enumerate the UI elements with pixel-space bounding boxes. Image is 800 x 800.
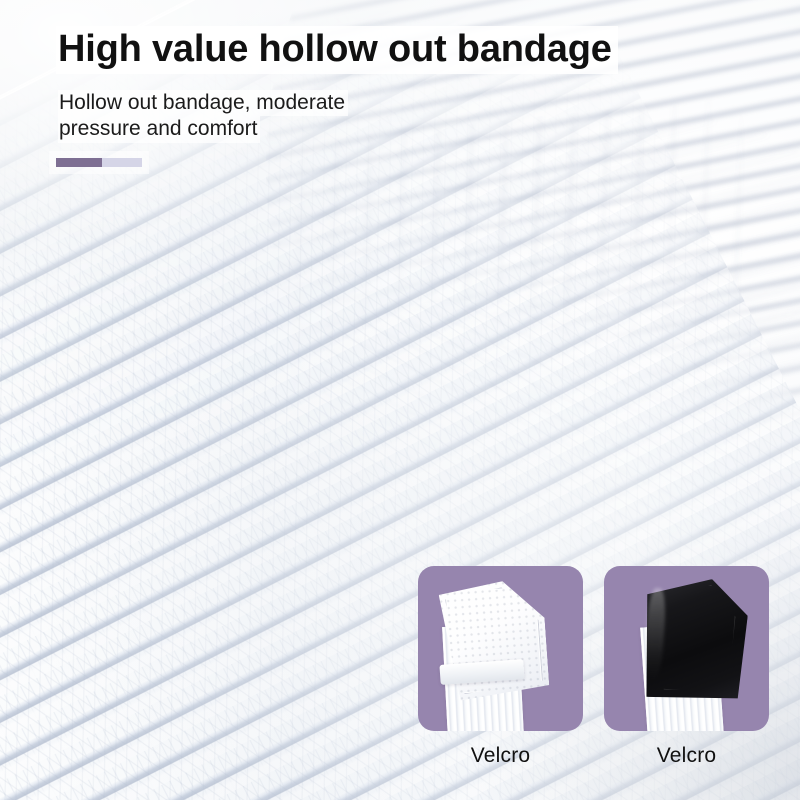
accent-bar bbox=[56, 158, 142, 167]
subtitle-line-2: pressure and comfort bbox=[58, 116, 260, 142]
feature-card-item: Velcro bbox=[604, 566, 769, 768]
velcro-white-caption: Velcro bbox=[471, 744, 531, 768]
feature-card-item: Velcro bbox=[418, 566, 583, 768]
subtitle-block: Hollow out bandage, moderate pressure an… bbox=[58, 90, 348, 143]
velcro-black-caption: Velcro bbox=[657, 744, 717, 768]
product-poster: High value hollow out bandage Hollow out… bbox=[0, 0, 800, 800]
velcro-black-card[interactable] bbox=[604, 566, 769, 731]
headline-container: High value hollow out bandage bbox=[56, 26, 618, 74]
feature-card-row: Velcro Velcro bbox=[418, 566, 770, 768]
page-title: High value hollow out bandage bbox=[56, 26, 618, 74]
subtitle-line-1: Hollow out bandage, moderate bbox=[58, 90, 348, 116]
accent-bar-light-segment bbox=[102, 158, 142, 167]
accent-bar-dark-segment bbox=[56, 158, 102, 167]
velcro-white-card[interactable] bbox=[418, 566, 583, 731]
